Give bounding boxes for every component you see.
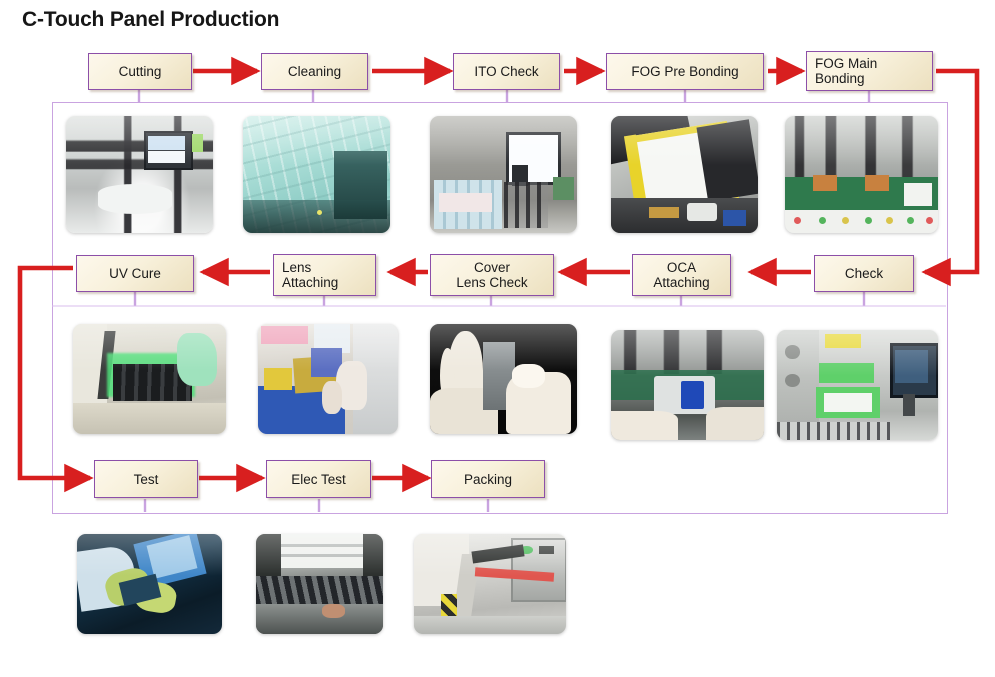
photo-cutting-machine	[66, 116, 213, 233]
photo-fog-main-bonding	[785, 116, 938, 233]
process-box-label-line2: Bonding	[815, 71, 877, 86]
process-box-ito-check[interactable]: ITO Check	[453, 53, 560, 90]
photo-ito-check-station	[430, 116, 577, 233]
process-box-label-line1: FOG Main	[815, 56, 877, 71]
process-box-label: Packing	[464, 472, 512, 487]
photo-uv-cure-oven	[73, 324, 226, 434]
process-box-label-line2: Attaching	[282, 275, 338, 290]
process-box-label: Check	[845, 266, 883, 281]
photo-oca-attaching	[611, 330, 764, 440]
photo-cleaning-tank	[243, 116, 390, 233]
diagram-canvas: C-Touch Panel Production	[0, 0, 995, 677]
photo-fog-pre-bonding	[611, 116, 758, 233]
process-box-cutting[interactable]: Cutting	[88, 53, 192, 90]
process-box-cover-lens-check[interactable]: Cover Lens Check	[430, 254, 554, 296]
process-box-label-line2: Attaching	[653, 275, 709, 290]
process-box-uv-cure[interactable]: UV Cure	[76, 255, 194, 292]
process-box-label: Cutting	[119, 64, 162, 79]
process-box-label: Elec Test	[291, 472, 346, 487]
photo-elec-test	[256, 534, 383, 634]
process-box-lens-attaching[interactable]: Lens Attaching	[273, 254, 376, 296]
process-box-cleaning[interactable]: Cleaning	[261, 53, 368, 90]
process-box-label-line2: Lens Check	[456, 275, 527, 290]
photo-packing	[414, 534, 566, 634]
photo-check-station	[777, 330, 938, 440]
process-box-label: Test	[134, 472, 159, 487]
process-box-label-line1: OCA	[653, 260, 709, 275]
process-box-fog-main-bonding[interactable]: FOG Main Bonding	[806, 51, 933, 91]
process-box-label: FOG Pre Bonding	[631, 64, 738, 79]
process-box-test[interactable]: Test	[94, 460, 198, 498]
process-box-label: UV Cure	[109, 266, 161, 281]
photo-cover-lens-check	[430, 324, 577, 434]
process-box-elec-test[interactable]: Elec Test	[266, 460, 371, 498]
photo-test-handling	[77, 534, 222, 634]
process-box-check[interactable]: Check	[814, 255, 914, 292]
process-box-label: ITO Check	[474, 64, 538, 79]
photo-lens-attaching	[258, 324, 398, 434]
process-box-label-line1: Lens	[282, 260, 338, 275]
process-box-fog-pre-bonding[interactable]: FOG Pre Bonding	[606, 53, 764, 90]
process-box-oca-attaching[interactable]: OCA Attaching	[632, 254, 731, 296]
process-box-label-line1: Cover	[456, 260, 527, 275]
process-box-label: Cleaning	[288, 64, 341, 79]
process-box-packing[interactable]: Packing	[431, 460, 545, 498]
